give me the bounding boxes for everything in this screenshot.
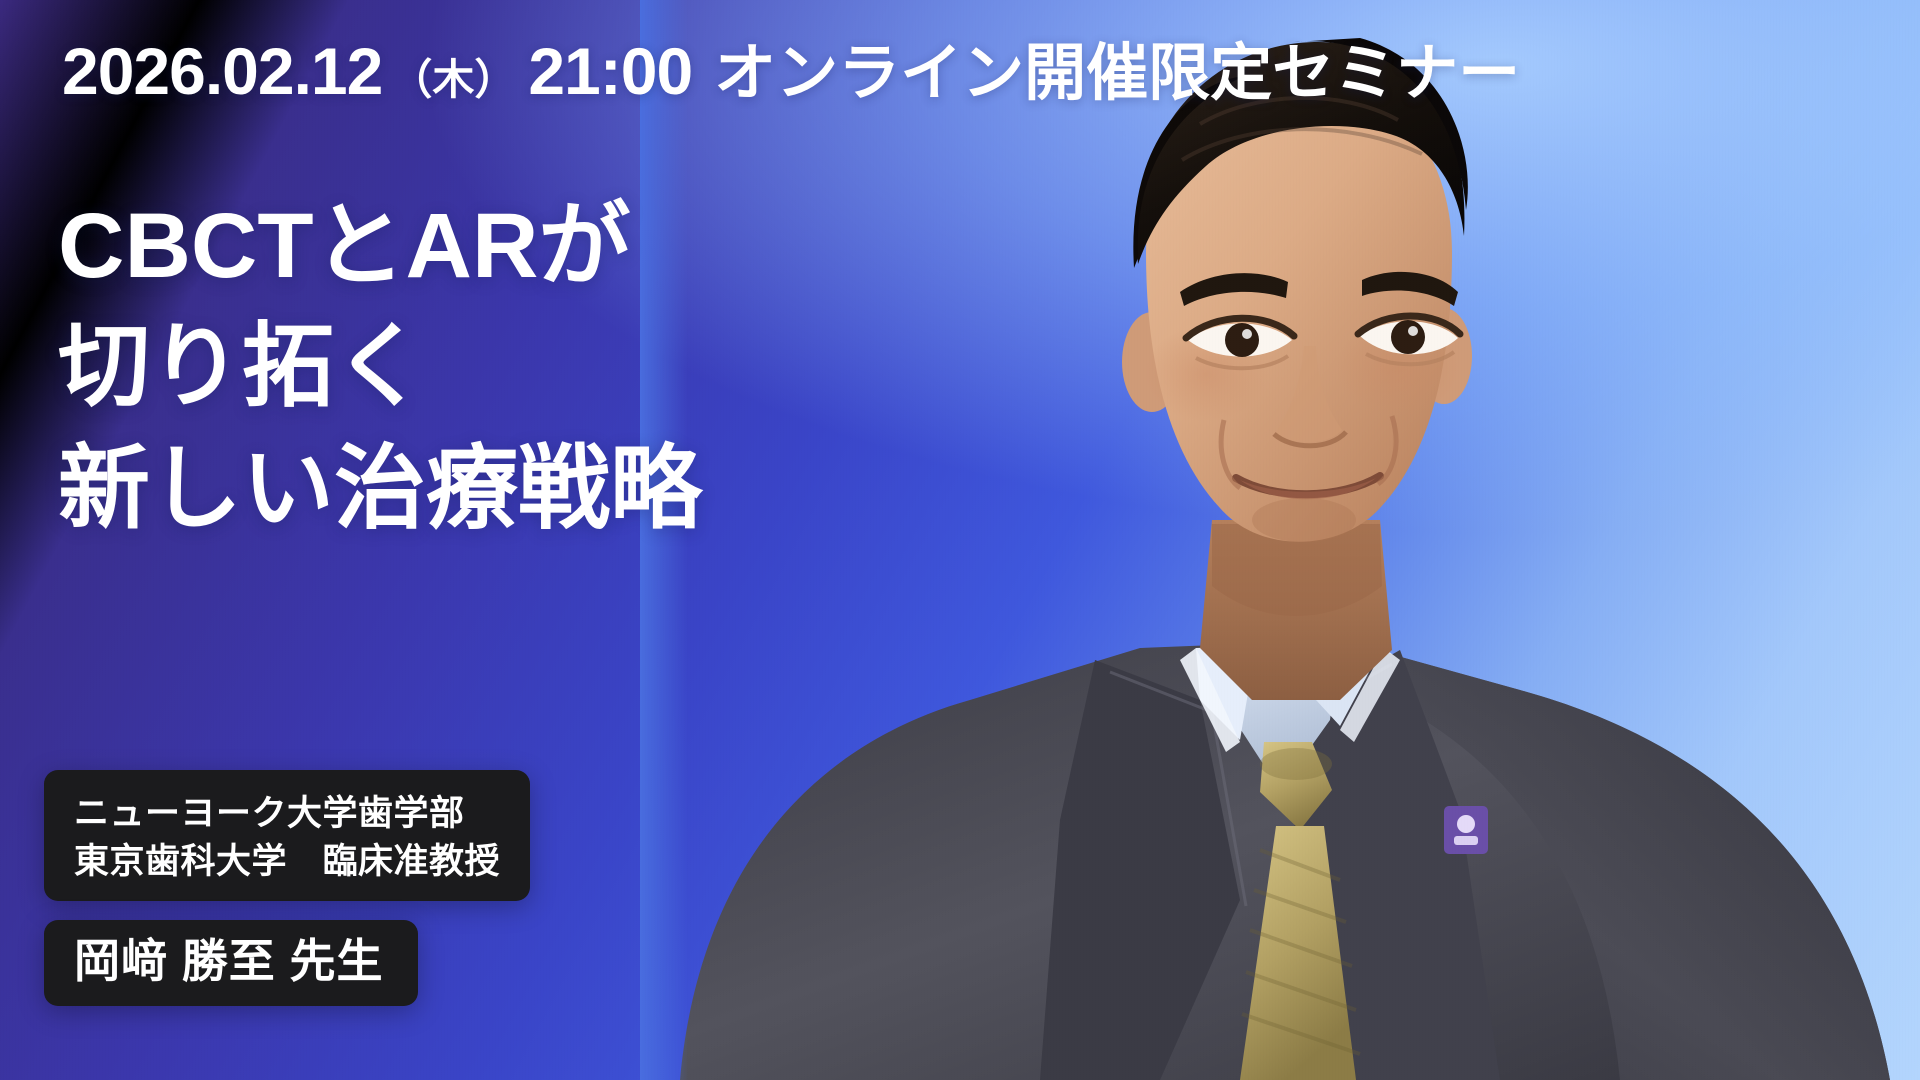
speaker-affiliation-box: ニューヨーク大学歯学部 東京歯科大学 臨床准教授	[44, 770, 530, 901]
affiliation-line-2: 東京歯科大学 臨床准教授	[74, 838, 500, 886]
speaker-portrait-photo	[640, 0, 1920, 1080]
event-datetime-headline: 2026.02.12 （木） 21:00 オンライン開催限定セミナー	[62, 38, 1520, 105]
title-line-1: CBCTとARが	[58, 186, 702, 307]
speaker-name: 岡﨑 勝至 先生	[74, 934, 384, 988]
event-day-of-week: （木）	[390, 59, 516, 101]
speaker-name-box: 岡﨑 勝至 先生	[44, 920, 418, 1006]
event-time: 21:00	[528, 38, 692, 104]
seminar-title: CBCTとARが 切り拓く 新しい治療戦略	[58, 186, 702, 550]
affiliation-line-1: ニューヨーク大学歯学部	[74, 790, 500, 838]
event-tagline: オンライン開催限定セミナー	[714, 43, 1520, 105]
title-line-3: 新しい治療戦略	[58, 429, 702, 550]
event-date: 2026.02.12	[62, 38, 382, 104]
title-line-2: 切り拓く	[58, 307, 702, 428]
lapel-pin-icon	[1444, 806, 1488, 854]
seminar-banner: 2026.02.12 （木） 21:00 オンライン開催限定セミナー CBCTと…	[0, 0, 1920, 1080]
